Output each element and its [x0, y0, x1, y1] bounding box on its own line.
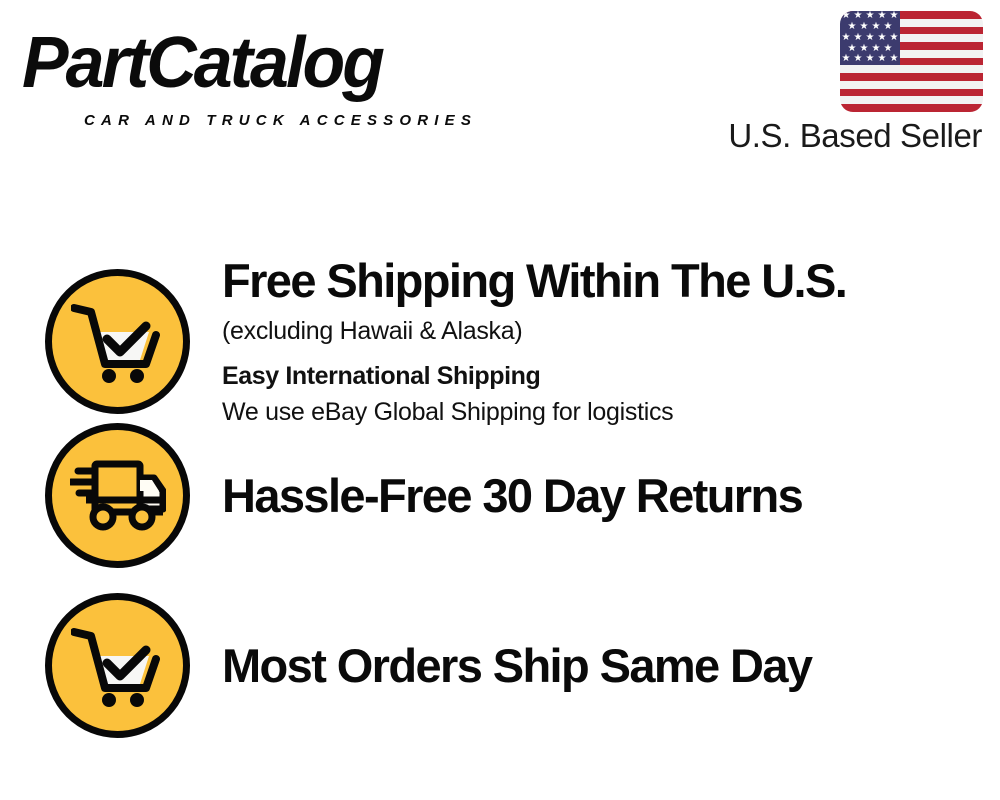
brand-tagline: CAR AND TRUCK ACCESSORIES	[84, 112, 477, 129]
flag-star: ★	[847, 44, 857, 54]
flag-star: ★	[841, 11, 851, 21]
feature-title: Free Shipping Within The U.S.	[222, 253, 980, 309]
flag-stripe	[840, 89, 983, 97]
feature-subtitle-strong: Easy International Shipping	[222, 358, 980, 394]
feature-text-block: Free Shipping Within The U.S.(excluding …	[222, 253, 1000, 430]
flag-star: ★	[859, 44, 869, 54]
flag-star: ★	[883, 44, 893, 54]
shopping-cart-check-icon	[45, 593, 190, 738]
flag-star: ★	[883, 22, 893, 32]
flag-star: ★	[847, 22, 857, 32]
feature-row: Free Shipping Within The U.S.(excluding …	[0, 253, 1000, 430]
feature-title: Most Orders Ship Same Day	[222, 638, 980, 694]
feature-title: Hassle-Free 30 Day Returns	[222, 468, 980, 524]
flag-star: ★	[841, 33, 851, 43]
flag-star: ★	[865, 11, 875, 21]
flag-star: ★	[871, 22, 881, 32]
shopping-cart-check-icon	[45, 269, 190, 414]
delivery-truck-icon	[45, 423, 190, 568]
us-based-seller-label: U.S. Based Seller	[728, 117, 982, 155]
flag-star: ★	[853, 33, 863, 43]
page-header: PartCatalog CAR AND TRUCK ACCESSORIES ★★…	[0, 0, 1000, 175]
flag-star: ★	[877, 11, 887, 21]
flag-stripe	[840, 104, 983, 112]
flag-star: ★	[865, 33, 875, 43]
flag-star: ★	[889, 33, 899, 43]
flag-star: ★	[841, 54, 851, 64]
flag-star: ★	[877, 54, 887, 64]
feature-row: Hassle-Free 30 Day Returns	[0, 423, 1000, 568]
brand-logo[interactable]: PartCatalog CAR AND TRUCK ACCESSORIES	[22, 24, 492, 114]
brand-wordmark: PartCatalog	[22, 24, 382, 102]
flag-star: ★	[877, 33, 887, 43]
flag-star: ★	[865, 54, 875, 64]
us-flag-badge: ★★★★★★★★★★★★★★★★★★★★★★★	[840, 11, 983, 112]
flag-star: ★	[853, 54, 863, 64]
flag-star: ★	[859, 22, 869, 32]
feature-subtitle: (excluding Hawaii & Alaska)	[222, 313, 980, 349]
feature-text-block: Hassle-Free 30 Day Returns	[222, 468, 1000, 524]
feature-row: Most Orders Ship Same Day	[0, 593, 1000, 738]
flag-star: ★	[853, 11, 863, 21]
us-flag-icon: ★★★★★★★★★★★★★★★★★★★★★★★	[840, 11, 983, 112]
flag-star: ★	[871, 44, 881, 54]
feature-text-block: Most Orders Ship Same Day	[222, 638, 1000, 694]
flag-star: ★	[889, 54, 899, 64]
flag-stripe	[840, 73, 983, 81]
flag-star: ★	[889, 11, 899, 21]
